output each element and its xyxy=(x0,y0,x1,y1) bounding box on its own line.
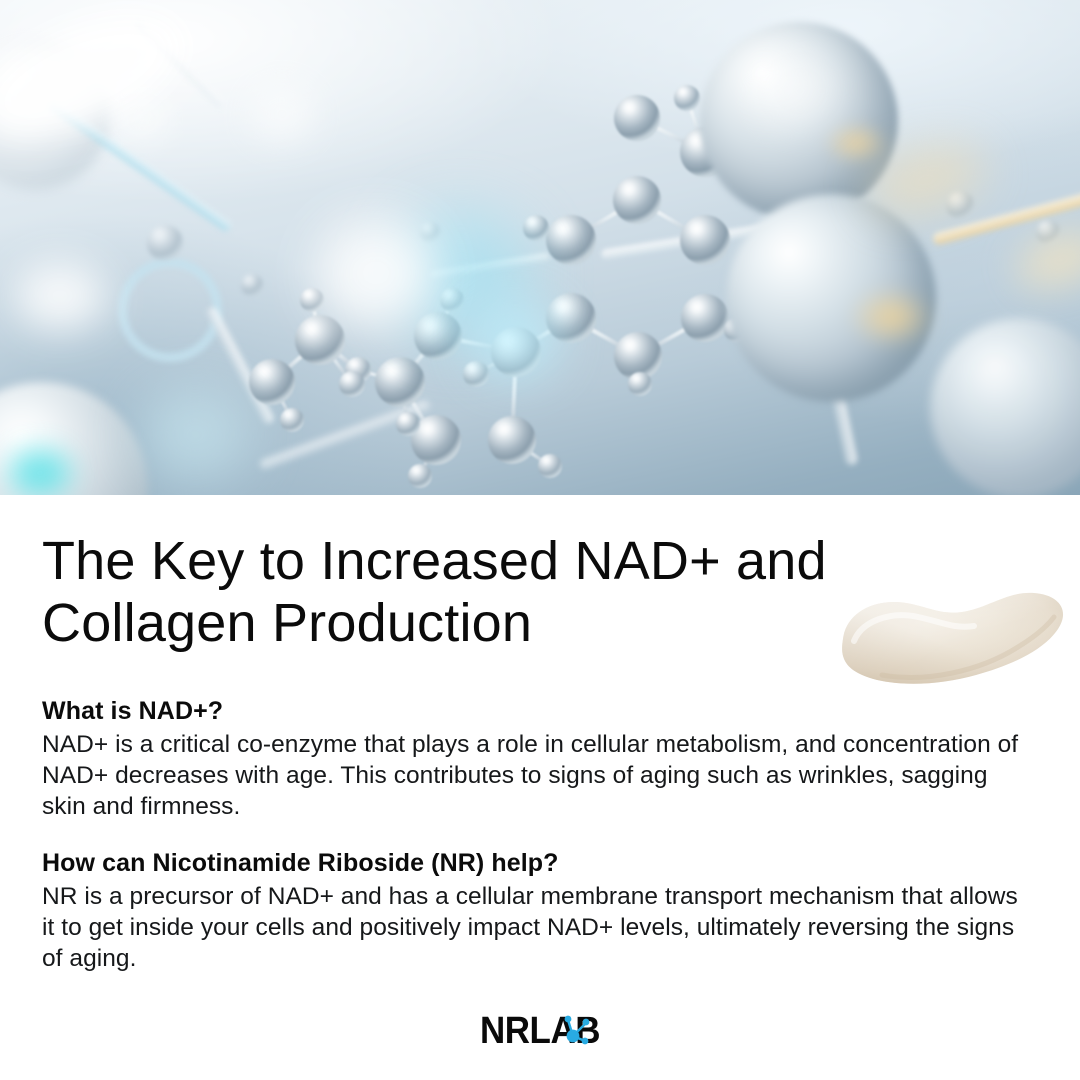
brand-logo: NRLAB xyxy=(464,1008,616,1054)
section-what-is-nad: What is NAD+? NAD+ is a critical co-enzy… xyxy=(42,695,1032,822)
section-body: NAD+ is a critical co-enzyme that plays … xyxy=(42,729,1032,822)
molecule-icon xyxy=(552,1010,594,1052)
section-title: How can Nicotinamide Riboside (NR) help? xyxy=(42,847,1032,879)
section-how-can-nr-help: How can Nicotinamide Riboside (NR) help?… xyxy=(42,847,1032,974)
bokeh-sphere xyxy=(700,22,898,220)
brand-logo-area: NRLAB xyxy=(0,1003,1080,1059)
page-title: The Key to Increased NAD+ and Collagen P… xyxy=(42,530,872,654)
content-panel: The Key to Increased NAD+ and Collagen P… xyxy=(0,495,1080,1080)
section-title: What is NAD+? xyxy=(42,695,1032,727)
hero-image xyxy=(0,0,1080,495)
bokeh-sphere xyxy=(726,194,936,402)
section-body: NR is a precursor of NAD+ and has a cell… xyxy=(42,881,1032,974)
promo-page: The Key to Increased NAD+ and Collagen P… xyxy=(0,0,1080,1080)
